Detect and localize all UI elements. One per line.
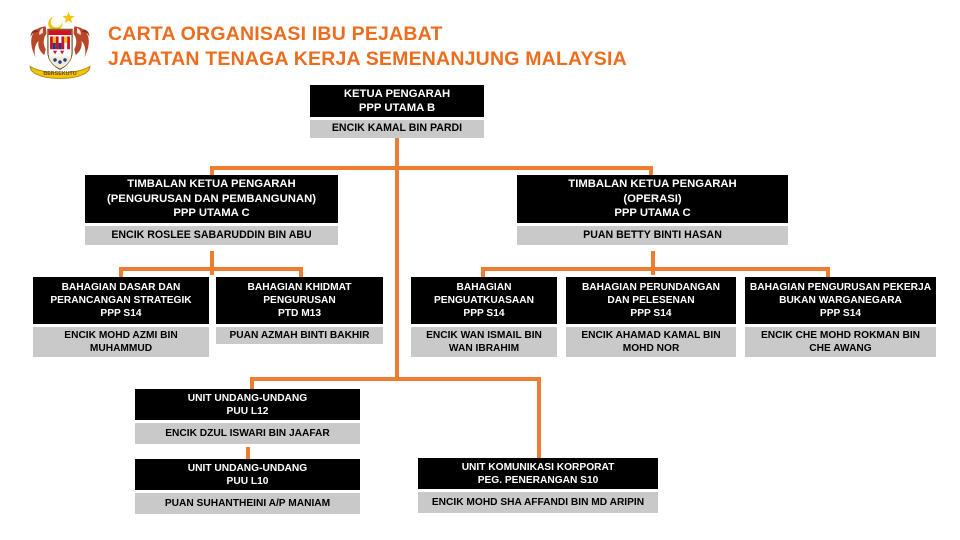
node-person: ENCIK MOHD SHA AFFANDI BIN MD ARIPIN	[418, 492, 658, 513]
node-person: PUAN SUHANTHEINI A/P MANIAM	[135, 493, 360, 514]
chart-header: BERSEKUTU CARTA ORGANISASI IBU PEJABAT J…	[0, 0, 960, 86]
node-person: ENCIK MOHD AZMI BIN MUHAMMUD	[33, 327, 209, 357]
connector-dasar-drop	[119, 267, 123, 277]
node-unit-undang-undang-l12[interactable]: UNIT UNDANG-UNDANG PUU L12 ENCIK DZUL IS…	[135, 389, 360, 444]
connector-unit-undang-drop	[250, 377, 254, 389]
chart-title-line-2: JABATAN TENAGA KERJA SEMENANJUNG MALAYSI…	[108, 47, 627, 72]
node-bahagian-penguatkuasaan[interactable]: BAHAGIAN PENGUATKUASAAN PPP S14 ENCIK WA…	[411, 277, 557, 357]
node-bahagian-dasar-perancangan[interactable]: BAHAGIAN DASAR DAN PERANCANGAN STRATEGIK…	[33, 277, 209, 357]
connector-timbalan-right-bar	[481, 267, 830, 271]
node-title: UNIT KOMUNIKASI KORPORAT PEG. PENERANGAN…	[418, 458, 658, 489]
node-ketua-pengarah[interactable]: KETUA PENGARAH PPP UTAMA B ENCIK KAMAL B…	[310, 85, 484, 138]
connector-penguatkuasaan-drop	[481, 267, 485, 277]
node-title: UNIT UNDANG-UNDANG PUU L12	[135, 389, 360, 420]
node-title: TIMBALAN KETUA PENGARAH (OPERASI) PPP UT…	[517, 175, 788, 223]
node-title: BAHAGIAN PERUNDANGAN DAN PELESENAN PPP S…	[566, 277, 736, 324]
node-title: BAHAGIAN DASAR DAN PERANCANGAN STRATEGIK…	[33, 277, 209, 324]
node-title: TIMBALAN KETUA PENGARAH (PENGURUSAN DAN …	[85, 175, 338, 223]
connector-timbalan-left-bar	[119, 267, 303, 271]
node-title: KETUA PENGARAH PPP UTAMA B	[310, 85, 484, 117]
org-chart-canvas: BERSEKUTU CARTA ORGANISASI IBU PEJABAT J…	[0, 0, 960, 540]
node-person: ENCIK KAMAL BIN PARDI	[310, 120, 484, 138]
malaysia-coat-of-arms-emblem: BERSEKUTU	[24, 8, 96, 82]
node-timbalan-operasi[interactable]: TIMBALAN KETUA PENGARAH (OPERASI) PPP UT…	[517, 175, 788, 245]
svg-text:BERSEKUTU: BERSEKUTU	[43, 71, 76, 77]
node-person: ENCIK ROSLEE SABARUDDIN BIN ABU	[85, 226, 338, 245]
chart-title-line-1: CARTA ORGANISASI IBU PEJABAT	[108, 22, 627, 47]
node-person: PUAN BETTY BINTI HASAN	[517, 226, 788, 245]
node-person: PUAN AZMAH BINTI BAKHIR	[216, 327, 383, 344]
connector-level2-bar	[210, 166, 653, 170]
connector-pekerja-asing-drop	[826, 267, 830, 277]
node-title: BAHAGIAN PENGUATKUASAAN PPP S14	[411, 277, 557, 324]
node-person: ENCIK CHE MOHD ROKMAN BIN CHE AWANG	[745, 327, 936, 357]
node-timbalan-pengurusan[interactable]: TIMBALAN KETUA PENGARAH (PENGURUSAN DAN …	[85, 175, 338, 245]
connector-timbalan-right-stem	[651, 251, 655, 275]
node-bahagian-khidmat-pengurusan[interactable]: BAHAGIAN KHIDMAT PENGURUSAN PTD M13 PUAN…	[216, 277, 383, 344]
connector-bottom-bar	[250, 377, 541, 381]
connector-unit-komunikasi-drop	[537, 377, 541, 458]
connector-kp-trunk	[395, 138, 399, 380]
connector-puu-l12-to-l10	[246, 447, 250, 459]
node-person: ENCIK AHAMAD KAMAL BIN MOHD NOR	[566, 327, 736, 357]
connector-khidmat-drop	[299, 267, 303, 277]
node-title: UNIT UNDANG-UNDANG PUU L10	[135, 459, 360, 490]
node-unit-undang-undang-l10[interactable]: UNIT UNDANG-UNDANG PUU L10 PUAN SUHANTHE…	[135, 459, 360, 514]
node-bahagian-perundangan-pelesenan[interactable]: BAHAGIAN PERUNDANGAN DAN PELESENAN PPP S…	[566, 277, 736, 357]
node-title: BAHAGIAN PENGURUSAN PEKERJA BUKAN WARGAN…	[745, 277, 936, 324]
connector-timbalan-left-stem	[210, 251, 214, 275]
chart-title: CARTA ORGANISASI IBU PEJABAT JABATAN TEN…	[108, 22, 627, 72]
node-unit-komunikasi-korporat[interactable]: UNIT KOMUNIKASI KORPORAT PEG. PENERANGAN…	[418, 458, 658, 513]
node-bahagian-pekerja-bukan-warganegara[interactable]: BAHAGIAN PENGURUSAN PEKERJA BUKAN WARGAN…	[745, 277, 936, 357]
node-person: ENCIK DZUL ISWARI BIN JAAFAR	[135, 423, 360, 444]
node-person: ENCIK WAN ISMAIL BIN WAN IBRAHIM	[411, 327, 557, 357]
node-title: BAHAGIAN KHIDMAT PENGURUSAN PTD M13	[216, 277, 383, 324]
